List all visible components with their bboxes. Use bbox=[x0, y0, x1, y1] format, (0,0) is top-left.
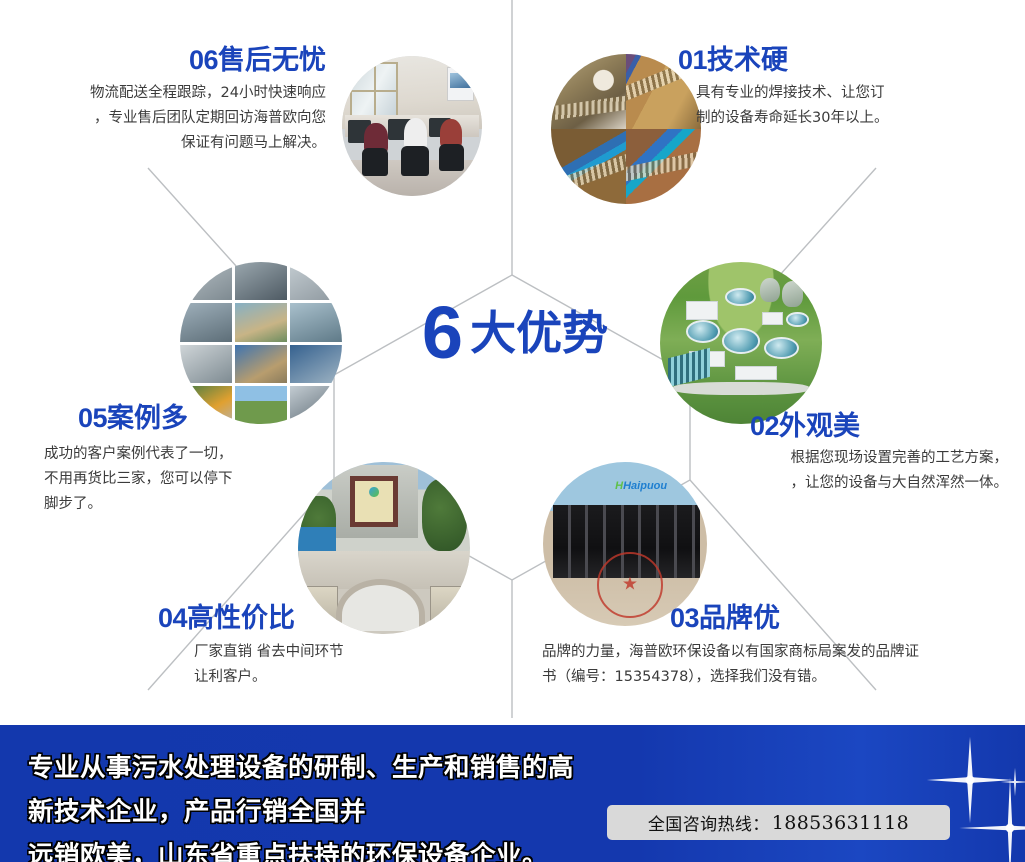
collage-cell bbox=[290, 345, 342, 383]
brand-watermark: HHaipuou bbox=[615, 480, 667, 492]
office-window bbox=[350, 62, 398, 121]
collage-cell bbox=[180, 345, 232, 383]
chair bbox=[362, 148, 389, 176]
tree-cluster bbox=[422, 479, 467, 551]
collage-cell bbox=[235, 303, 287, 341]
filter-beds bbox=[668, 347, 710, 387]
collage-cell bbox=[235, 345, 287, 383]
feature-04-line: 让利客户。 bbox=[194, 665, 478, 690]
feature-01: 01技术硬 具有专业的焊接技术、让您订 制的设备寿命延长30年以上。 bbox=[678, 46, 1018, 131]
feature-06-index: 06 bbox=[189, 45, 218, 75]
feature-05-line: 脚步了。 bbox=[44, 492, 342, 517]
feature-04-title: 高性价比 bbox=[187, 603, 295, 634]
feature-06-heading: 06售后无忧 bbox=[6, 46, 326, 76]
feature-02: 02外观美 根据您现场设置完善的工艺方案， ，让您的设备与大自然浑然一体。 bbox=[688, 412, 1008, 496]
equipment-tank-with-seal-photo: HHaipuou bbox=[543, 462, 707, 626]
sparkle-icon bbox=[955, 773, 1025, 862]
advantages-infographic: 6 大优势 06售后无忧 物流配送全程跟踪，24小时快速响应 ，专业售后团队定期… bbox=[0, 0, 1025, 862]
feature-01-line: 制的设备寿命延长30年以上。 bbox=[696, 106, 1018, 131]
plant-road bbox=[673, 382, 809, 395]
feature-04-index: 04 bbox=[158, 603, 187, 633]
settling-pond bbox=[786, 312, 809, 327]
feature-04-line: 厂家直销 省去中间环节 bbox=[194, 640, 478, 665]
feature-03: 03品牌优 品牌的力量，海普欧环保设备以有国家商标局案发的品牌证 书（编号：15… bbox=[542, 604, 1012, 690]
weld-quadrant bbox=[551, 54, 626, 129]
feature-06: 06售后无忧 物流配送全程跟踪，24小时快速响应 ，专业售后团队定期回访海普欧向… bbox=[6, 46, 326, 156]
banner-slogan: 专业从事污水处理设备的研制、生产和销售的高新技术企业，产品行销全国并 远销欧美，… bbox=[28, 747, 588, 862]
feature-03-body: 品牌的力量，海普欧环保设备以有国家商标局案发的品牌证 书（编号：15354378… bbox=[542, 640, 1012, 690]
plant-building bbox=[735, 366, 777, 381]
feature-06-line: ，专业售后团队定期回访海普欧向您 bbox=[6, 106, 326, 131]
plant-building bbox=[762, 312, 783, 325]
feature-05-title: 案例多 bbox=[107, 403, 188, 434]
office-team-photo bbox=[342, 56, 482, 196]
chair bbox=[401, 146, 429, 177]
feature-02-title: 外观美 bbox=[779, 411, 860, 442]
weld-quadrant bbox=[626, 129, 701, 204]
feature-02-line: 根据您现场设置完善的工艺方案， bbox=[688, 446, 1008, 471]
feature-04: 04高性价比 厂家直销 省去中间环节 让利客户。 bbox=[158, 604, 478, 690]
feature-03-index: 03 bbox=[670, 603, 699, 633]
hotline-label: 全国咨询热线： bbox=[648, 810, 770, 835]
collage-cell bbox=[290, 303, 342, 341]
collage-cell bbox=[235, 262, 287, 300]
feature-03-line: 品牌的力量，海普欧环保设备以有国家商标局案发的品牌证 bbox=[542, 640, 1012, 665]
hotline-number: 18853631118 bbox=[772, 812, 909, 834]
feature-03-line: 书（编号：15354378），选择我们没有错。 bbox=[542, 665, 1012, 690]
office-poster bbox=[447, 67, 474, 101]
sparkle-icon bbox=[998, 765, 1025, 799]
feature-05: 05案例多 成功的客户案例代表了一切， 不用再货比三家，您可以停下 脚步了。 bbox=[42, 404, 342, 517]
plant-building bbox=[686, 301, 718, 320]
case-collage-photo bbox=[180, 262, 342, 424]
feature-06-body: 物流配送全程跟踪，24小时快速响应 ，专业售后团队定期回访海普欧向您 保证有问题… bbox=[6, 81, 326, 156]
feature-02-line: ，让您的设备与大自然浑然一体。 bbox=[688, 471, 1008, 496]
feature-01-line: 具有专业的焊接技术、让您订 bbox=[696, 81, 1018, 106]
feature-03-heading: 03品牌优 bbox=[542, 604, 1012, 634]
settling-pond bbox=[686, 320, 720, 343]
feature-05-line: 不用再货比三家，您可以停下 bbox=[44, 467, 342, 492]
settling-pond bbox=[722, 328, 761, 354]
banner-slogan-line: 专业从事污水处理设备的研制、生产和销售的高新技术企业，产品行销全国并 bbox=[28, 747, 588, 835]
settling-pond bbox=[764, 337, 800, 360]
feature-05-body: 成功的客户案例代表了一切， 不用再货比三家，您可以停下 脚步了。 bbox=[42, 442, 342, 517]
feature-02-index: 02 bbox=[750, 411, 779, 441]
feature-06-line: 保证有问题马上解决。 bbox=[6, 131, 326, 156]
feature-01-heading: 01技术硬 bbox=[678, 46, 1018, 76]
feature-01-index: 01 bbox=[678, 45, 707, 75]
settling-pond bbox=[725, 288, 756, 306]
bottom-banner: 专业从事污水处理设备的研制、生产和销售的高新技术企业，产品行销全国并 远销欧美，… bbox=[0, 725, 1025, 862]
feature-02-heading: 02外观美 bbox=[688, 412, 1008, 442]
aerial-wastewater-plant-photo bbox=[660, 262, 822, 424]
feature-04-heading: 04高性价比 bbox=[158, 604, 478, 634]
feature-05-heading: 05案例多 bbox=[42, 404, 342, 434]
digester-tank bbox=[782, 281, 803, 307]
center-title: 6 大优势 bbox=[390, 288, 640, 378]
feature-02-body: 根据您现场设置完善的工艺方案， ，让您的设备与大自然浑然一体。 bbox=[688, 446, 1008, 496]
brand-watermark-text: Haipuou bbox=[623, 480, 667, 492]
center-label: 大优势 bbox=[470, 310, 608, 356]
collage-cell bbox=[180, 303, 232, 341]
digester-tank bbox=[760, 278, 779, 302]
hotline-box[interactable]: 全国咨询热线：18853631118 bbox=[607, 805, 950, 840]
feature-05-line: 成功的客户案例代表了一切， bbox=[44, 442, 342, 467]
feature-03-title: 品牌优 bbox=[699, 603, 780, 634]
company-sign bbox=[350, 476, 398, 528]
feature-05-index: 05 bbox=[78, 403, 107, 433]
feature-01-title: 技术硬 bbox=[707, 45, 788, 76]
banner-slogan-line: 远销欧美，山东省重点扶持的环保设备企业。 bbox=[28, 835, 588, 862]
center-number: 6 bbox=[422, 296, 462, 370]
feature-06-line: 物流配送全程跟踪，24小时快速响应 bbox=[6, 81, 326, 106]
feature-04-body: 厂家直销 省去中间环节 让利客户。 bbox=[158, 640, 478, 690]
weld-quadrant bbox=[551, 129, 626, 204]
feature-01-body: 具有专业的焊接技术、让您订 制的设备寿命延长30年以上。 bbox=[678, 81, 1018, 131]
chair bbox=[439, 144, 464, 171]
feature-06-title: 售后无忧 bbox=[218, 45, 326, 76]
